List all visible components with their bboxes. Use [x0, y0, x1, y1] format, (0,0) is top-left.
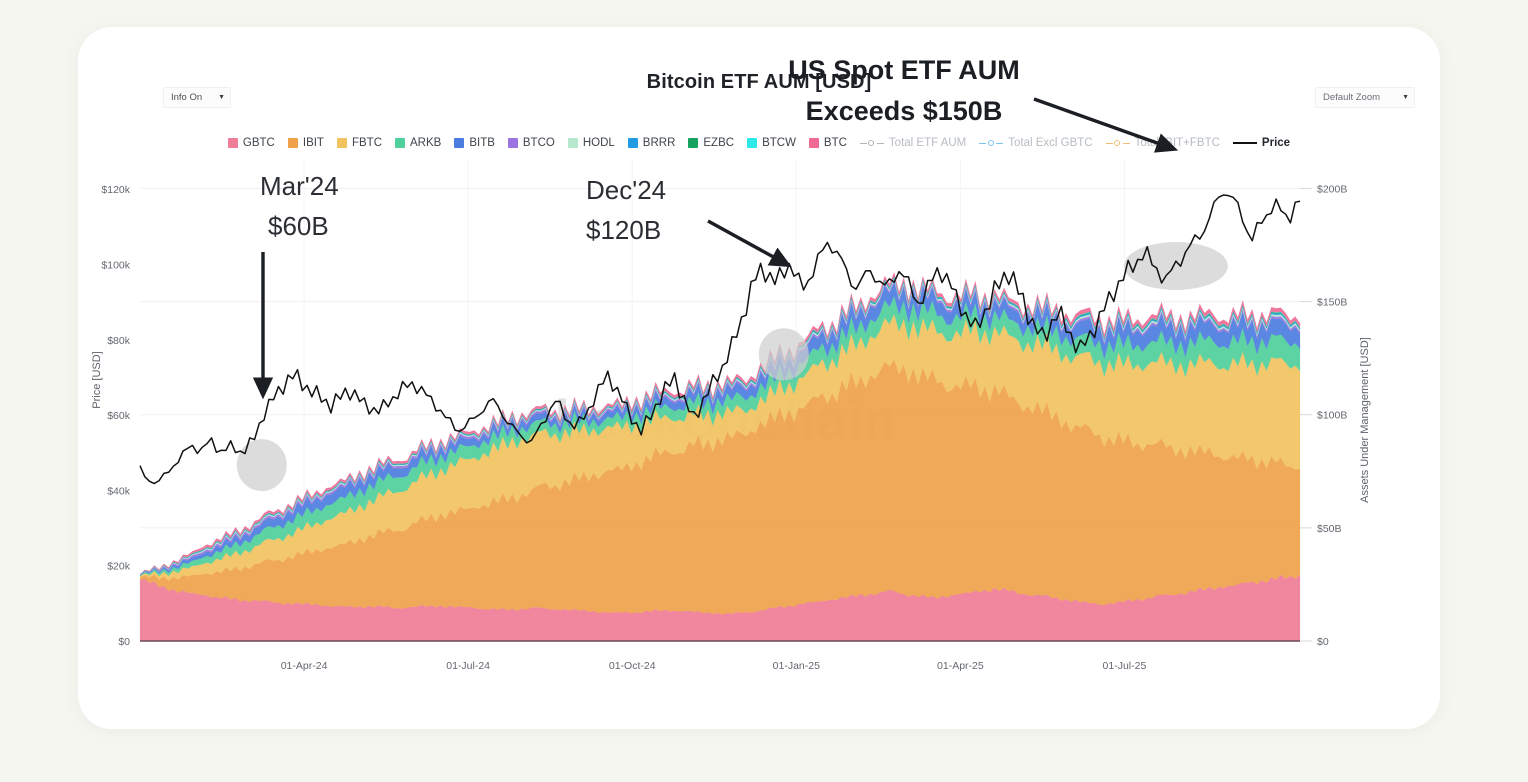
page-root: Bitcoin ETF AUM [USD] Info On ▼ Default … — [0, 0, 1528, 782]
y-axis-left-tick: $20k — [107, 561, 131, 573]
highlight-ellipse — [1124, 242, 1228, 290]
highlight-ellipse — [237, 439, 287, 491]
y-axis-right-tick: $200B — [1317, 183, 1347, 195]
chart-svg: checkonchain $0$20k$40k$60k$80k$100k$120… — [78, 27, 1440, 729]
y-axis-left-tick: $60k — [107, 410, 131, 422]
plot-area: checkonchain $0$20k$40k$60k$80k$100k$120… — [78, 27, 1440, 729]
y-axis-right-tick: $150B — [1317, 297, 1347, 309]
x-axis-tick: 01-Oct-24 — [609, 660, 656, 672]
chart-card: Bitcoin ETF AUM [USD] Info On ▼ Default … — [78, 27, 1440, 729]
x-axis-tick: 01-Jul-25 — [1103, 660, 1147, 672]
annotation-mar24-line2: $60B — [268, 211, 329, 241]
annotation-dec24-line1: Dec'24 — [586, 175, 666, 205]
y-axis-left-title: Price [USD] — [91, 351, 103, 408]
x-axis-tick: 01-Apr-25 — [937, 660, 984, 672]
y-axis-left-tick: $80k — [107, 335, 131, 347]
annotation-mar24-line1: Mar'24 — [260, 171, 339, 201]
y-axis-left-tick: $0 — [118, 636, 130, 648]
annotation-dec24-line2: $120B — [586, 215, 661, 245]
annotation-aum150-line2: Exceeds $150B — [806, 96, 1003, 126]
annotation-arrow-aum150 — [1034, 99, 1174, 149]
y-axis-right-tick: $0 — [1317, 636, 1329, 648]
y-axis-right-tick: $50B — [1317, 523, 1342, 535]
y-axis-left-tick: $120k — [101, 184, 130, 196]
y-axis-left-tick: $100k — [101, 259, 130, 271]
annotation-aum150-line1: US Spot ETF AUM — [788, 55, 1019, 85]
y-axis-left-tick: $40k — [107, 485, 131, 497]
y-axis-right-tick: $100B — [1317, 410, 1347, 422]
x-axis-tick: 01-Jan-25 — [773, 660, 820, 672]
y-axis-right-title: Assets Under Management [USD] — [1359, 337, 1371, 503]
x-axis-tick: 01-Jul-24 — [446, 660, 490, 672]
x-axis-tick: 01-Apr-24 — [281, 660, 328, 672]
highlight-ellipse — [759, 328, 809, 380]
